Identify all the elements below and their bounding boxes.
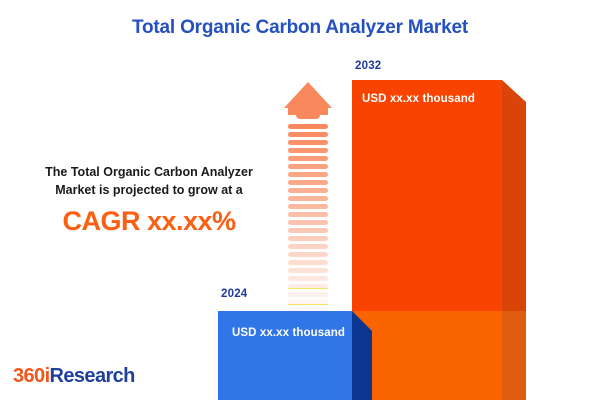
forecast-bar-front-face-lower	[352, 311, 502, 400]
arrow-segment	[288, 196, 328, 201]
arrow-segment	[288, 220, 328, 225]
page-title: Total Organic Carbon Analyzer Market	[0, 17, 600, 39]
cagr-value-text: CAGR xx.xx%	[18, 206, 280, 237]
logo-blue-part: Research	[50, 365, 135, 387]
arrow-segment	[288, 252, 328, 257]
brand-logo: 360iResearch	[13, 365, 135, 388]
cagr-callout: The Total Organic Carbon Analyzer Market…	[18, 163, 280, 237]
arrow-segment	[288, 212, 328, 217]
arrow-segment	[288, 156, 328, 161]
cagr-lead-text: The Total Organic Carbon Analyzer Market…	[18, 163, 280, 199]
arrow-segment	[288, 228, 328, 233]
arrow-segment	[288, 292, 328, 297]
arrow-segment	[288, 180, 328, 185]
arrow-segment	[288, 268, 328, 273]
arrow-head-icon	[284, 82, 332, 108]
forecast-bar-front-face-upper	[352, 80, 502, 311]
base-year-label: 2024	[221, 288, 247, 300]
forecast-bar-side-face-lower	[502, 311, 526, 400]
arrow-segment	[288, 172, 328, 177]
arrow-segment	[288, 204, 328, 209]
base-value-label: USD xx.xx thousand	[232, 327, 362, 339]
arrow-segment	[288, 124, 328, 129]
cagr-lead-line-2: Market is projected to grow at a	[55, 183, 243, 197]
forecast-value-label: USD xx.xx thousand	[362, 93, 502, 105]
arrow-highlight-tick	[288, 288, 328, 289]
forecast-year-label: 2032	[355, 60, 381, 72]
growth-arrow-icon	[284, 82, 332, 282]
arrow-segment	[288, 164, 328, 169]
infographic-canvas: Total Organic Carbon Analyzer Market 203…	[0, 0, 600, 400]
arrow-segment	[288, 132, 328, 137]
arrow-segment	[288, 140, 328, 145]
cagr-lead-line-1: The Total Organic Carbon Analyzer	[45, 165, 253, 179]
arrow-segment	[288, 236, 328, 241]
arrow-neck	[296, 106, 320, 119]
arrow-highlight-tick	[288, 304, 328, 305]
logo-orange-part: 360i	[13, 365, 50, 387]
arrow-segment	[288, 244, 328, 249]
base-bar-front-face	[218, 311, 352, 400]
arrow-segment	[288, 260, 328, 265]
arrow-segment	[288, 148, 328, 153]
arrow-segment	[288, 276, 328, 281]
arrow-segment	[288, 188, 328, 193]
